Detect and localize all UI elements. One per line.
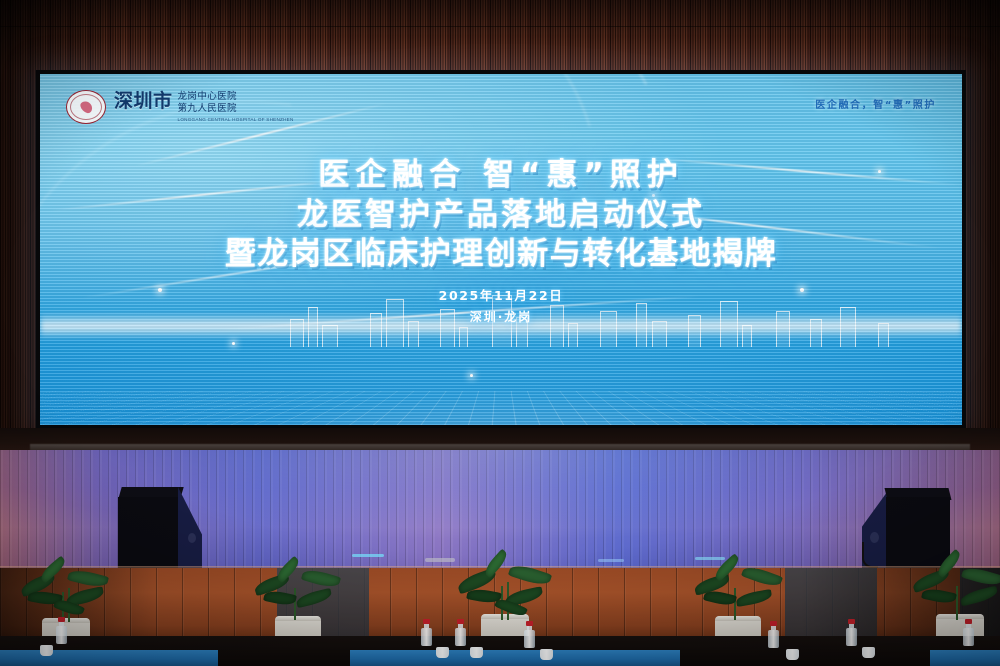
drinking-cup: [862, 647, 875, 658]
event-location: 深圳·龙岗: [40, 308, 962, 325]
water-bottle: [421, 619, 432, 646]
floor-tape-mark: [598, 559, 624, 562]
drinking-cup: [470, 647, 483, 658]
wall-top-shadow: [0, 0, 1000, 70]
headline-line-3: 暨龙岗区临床护理创新与转化基地揭牌: [40, 239, 962, 271]
logo-hospital-line2: 第九人民医院: [178, 104, 294, 115]
conference-table-cloth-left: [0, 650, 218, 666]
water-bottle: [963, 619, 974, 646]
drinking-cup: [436, 647, 449, 658]
headline-line-2: 龙医智护产品落地启动仪式: [40, 200, 962, 232]
floor-tape-mark: [425, 558, 455, 562]
seal-emblem-icon: [78, 99, 94, 115]
logo-hospital-line1: 龙岗中心医院: [178, 92, 294, 103]
hospital-seal-icon: [66, 90, 106, 124]
drinking-cup: [540, 649, 553, 660]
corner-slogan: 医企融合，智“惠”照护: [815, 96, 936, 111]
water-bottle: [56, 617, 67, 644]
floor-tape-mark: [352, 554, 384, 557]
drinking-cup: [786, 649, 799, 660]
logo-english-name: LONGGANG CENTRAL HOSPITAL OF SHENZHEN: [178, 117, 294, 122]
water-bottle: [455, 619, 466, 646]
conference-table-cloth-right: [930, 650, 1000, 666]
stage-monitor-left: [118, 487, 200, 569]
led-screen: 深圳市 龙岗中心医院 第九人民医院 LONGGANG CENTRAL HOSPI…: [40, 74, 962, 425]
water-bottle: [846, 619, 857, 646]
logo-city-name: 深圳市: [114, 92, 173, 111]
conference-hall-scene: 深圳市 龙岗中心医院 第九人民医院 LONGGANG CENTRAL HOSPI…: [0, 0, 1000, 666]
event-date: 2025年11月22日: [40, 285, 962, 304]
conference-table-cloth-center: [350, 650, 680, 666]
drinking-cup: [40, 645, 53, 656]
water-bottle: [524, 621, 535, 648]
led-screen-frame: 深圳市 龙岗中心医院 第九人民医院 LONGGANG CENTRAL HOSPI…: [36, 70, 966, 428]
headline-line-1: 医企融合 智“惠”照护: [40, 160, 962, 192]
hospital-logo: 深圳市 龙岗中心医院 第九人民医院 LONGGANG CENTRAL HOSPI…: [66, 90, 294, 124]
water-bottle: [768, 621, 779, 648]
screen-headline-block: 医企融合 智“惠”照护 龙医智护产品落地启动仪式 暨龙岗区临床护理创新与转化基地…: [40, 160, 962, 325]
